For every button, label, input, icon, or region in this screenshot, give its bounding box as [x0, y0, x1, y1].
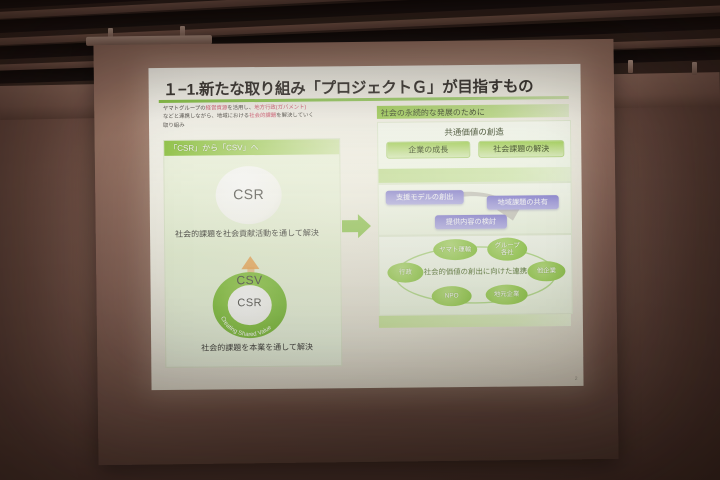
collaboration-center-label: 社会的価値の創出に向けた連携	[379, 265, 571, 278]
shared-value-heading: 共通価値の創造	[378, 125, 570, 139]
process-box-regional-issues: 地域課題の共有	[487, 195, 559, 210]
csr-circle-label: CSR	[216, 186, 282, 203]
csr-to-csv-header: 「CSR」から「CSV」へ	[164, 139, 339, 156]
csv-donut: CSV CSR Creating Shared Value	[212, 272, 287, 339]
network-node-group-label: グループ 各社	[487, 242, 527, 257]
slide-subtitle: ヤマトグループの経営資源を活用し、地方行政(ガバメント) などと連携しながら、地…	[163, 103, 371, 130]
value-box-social-label: 社会課題の解決	[479, 143, 563, 155]
csv-donut-curve-text: Creating Shared Value	[212, 272, 287, 339]
process-box-offer-review-label: 提供内容の検討	[435, 217, 507, 228]
shared-value-panel-footer	[378, 167, 570, 183]
right-arrow-icon	[342, 213, 372, 239]
csr-description: 社会的課題を社会貢献活動を通して解決	[175, 227, 335, 240]
csr-circle: CSR	[215, 166, 282, 225]
collaboration-panel-footer	[379, 314, 571, 328]
photo-scene: １−1.新たな取り組み「プロジェクトＧ」が目指すもの ヤマトグループの経営資源を…	[0, 0, 720, 480]
screen-hook-far-right-2	[692, 62, 697, 75]
up-arrow-icon	[241, 256, 259, 269]
presentation-slide: １−1.新たな取り組み「プロジェクトＧ」が目指すもの ヤマトグループの経営資源を…	[148, 64, 583, 390]
process-panel: 支援モデルの創出 地域課題の共有 提供内容の検討	[378, 182, 572, 236]
value-box-growth: 企業の成長	[386, 141, 470, 159]
value-box-growth-label: 企業の成長	[387, 144, 469, 156]
process-box-regional-issues-label: 地域課題の共有	[487, 197, 559, 208]
screen-hook-far-right	[628, 60, 633, 73]
csr-to-csv-panel: 「CSR」から「CSV」へ CSR 社会的課題を社会貢献活動を通して解決 CSV…	[163, 138, 342, 368]
process-box-offer-review: 提供内容の検討	[435, 215, 507, 230]
sustainable-development-label: 社会の永続的な発展のために	[381, 106, 485, 118]
value-box-social: 社会課題の解決	[478, 140, 564, 158]
collaboration-panel: ヤマト運輸 グループ 各社 行政 NPO 地元企業 他企業 社会的価値の創出に向…	[378, 234, 573, 316]
slide-page-number: 2	[575, 376, 578, 382]
network-node-npo-label: NPO	[432, 292, 472, 300]
sustainable-development-band: 社会の永続的な発展のために	[377, 104, 569, 119]
network-node-yamato-label: ヤマト運輸	[433, 246, 477, 254]
process-box-support-model-label: 支援モデルの創出	[386, 192, 464, 203]
svg-text:Creating Shared Value: Creating Shared Value	[219, 315, 274, 338]
csv-description: 社会的課題を本業を通して解決	[174, 341, 340, 354]
csr-to-csv-header-label: 「CSR」から「CSV」へ	[169, 142, 258, 154]
network-node-local-company-label: 地元企業	[486, 291, 528, 299]
shared-value-panel: 共通価値の創造 企業の成長 社会課題の解決	[377, 120, 572, 184]
process-box-support-model: 支援モデルの創出	[386, 190, 464, 205]
